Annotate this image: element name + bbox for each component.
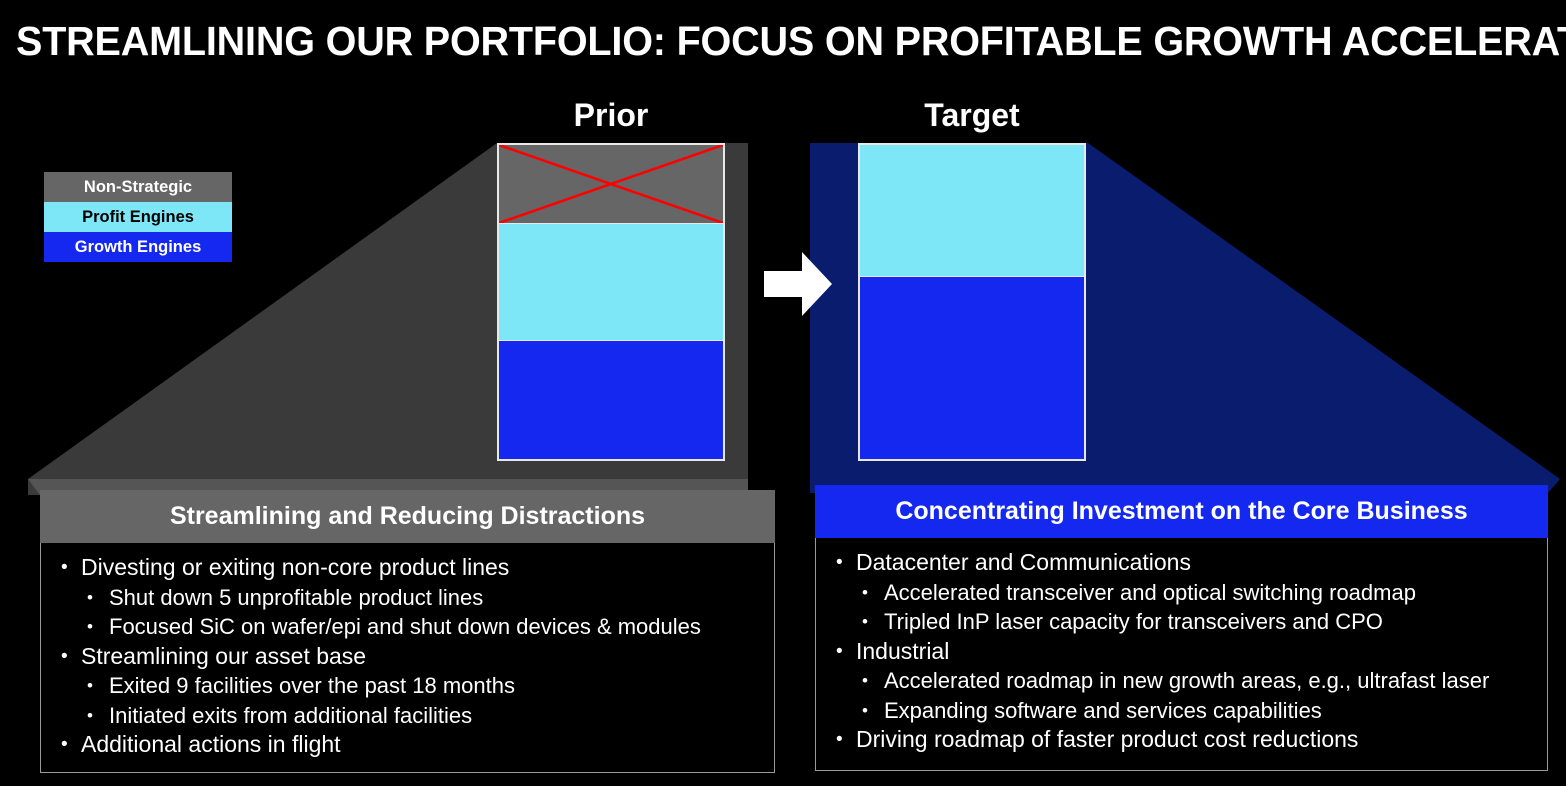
list-item: Divesting or exiting non-core product li…	[49, 553, 766, 583]
list-item: Shut down 5 unprofitable product lines	[49, 583, 766, 613]
bar-segment-prior-profit-engines	[499, 224, 723, 341]
legend-item-non-strategic: Non-Strategic	[44, 172, 232, 202]
panel-left-header: Streamlining and Reducing Distractions	[40, 490, 775, 543]
legend-label-profit-engines: Profit Engines	[82, 208, 194, 226]
panel-left-body: Divesting or exiting non-core product li…	[40, 543, 775, 773]
bar-segment-target-growth-engines	[860, 277, 1084, 459]
stacked-bar-prior	[497, 143, 725, 461]
column-label-prior: Prior	[497, 95, 725, 135]
stacked-bar-target	[858, 143, 1086, 461]
panel-right-body: Datacenter and Communications Accelerate…	[815, 538, 1548, 771]
legend: Non-Strategic Profit Engines Growth Engi…	[44, 172, 232, 262]
panel-concentrating: Concentrating Investment on the Core Bus…	[815, 485, 1548, 771]
column-label-target: Target	[858, 95, 1086, 135]
list-item: Driving roadmap of faster product cost r…	[824, 725, 1539, 755]
bar-segment-target-profit-engines	[860, 145, 1084, 277]
list-item: Streamlining our asset base	[49, 642, 766, 672]
legend-label-non-strategic: Non-Strategic	[84, 178, 192, 196]
slide-canvas: STREAMLINING OUR PORTFOLIO: FOCUS ON PRO…	[0, 0, 1566, 786]
panel-right-header: Concentrating Investment on the Core Bus…	[815, 485, 1548, 538]
list-item: Initiated exits from additional faciliti…	[49, 701, 766, 731]
list-item: Expanding software and services capabili…	[824, 696, 1539, 726]
panel-streamlining: Streamlining and Reducing Distractions D…	[40, 490, 775, 773]
list-item: Tripled InP laser capacity for transceiv…	[824, 607, 1539, 637]
bar-segment-prior-non-strategic	[499, 145, 723, 224]
list-item: Exited 9 facilities over the past 18 mon…	[49, 671, 766, 701]
list-item: Focused SiC on wafer/epi and shut down d…	[49, 612, 766, 642]
panel-right-bullet-list: Datacenter and Communications Accelerate…	[824, 548, 1539, 755]
arrow-right-icon	[764, 252, 832, 316]
legend-label-growth-engines: Growth Engines	[75, 238, 202, 256]
list-item: Additional actions in flight	[49, 730, 766, 760]
strikethrough-x-icon	[499, 145, 723, 223]
list-item: Accelerated transceiver and optical swit…	[824, 578, 1539, 608]
list-item: Industrial	[824, 637, 1539, 667]
legend-item-profit-engines: Profit Engines	[44, 202, 232, 232]
list-item: Accelerated roadmap in new growth areas,…	[824, 666, 1539, 696]
bar-segment-prior-growth-engines	[499, 341, 723, 459]
legend-item-growth-engines: Growth Engines	[44, 232, 232, 262]
panel-left-bullet-list: Divesting or exiting non-core product li…	[49, 553, 766, 760]
page-title: STREAMLINING OUR PORTFOLIO: FOCUS ON PRO…	[16, 18, 1496, 64]
list-item: Datacenter and Communications	[824, 548, 1539, 578]
